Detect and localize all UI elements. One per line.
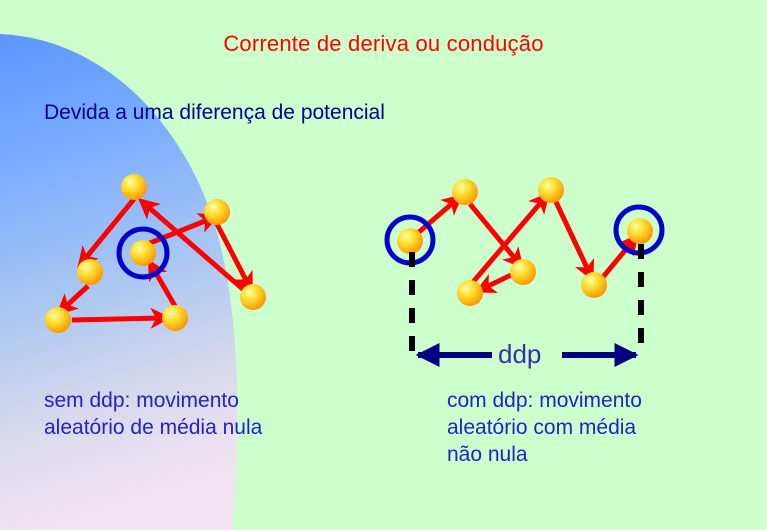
particle [77, 259, 103, 285]
particle-circled [397, 228, 423, 254]
arrow-left-3 [72, 318, 161, 320]
particle [45, 307, 71, 333]
physics-diagram [0, 0, 767, 530]
arrow-left-2 [64, 286, 88, 308]
particle [240, 284, 266, 310]
arrow-right-2 [470, 204, 517, 261]
particle [457, 280, 483, 306]
particle [510, 259, 536, 285]
particle [538, 177, 564, 203]
slide-canvas: Corrente de deriva ou condução Devida a … [0, 0, 767, 530]
arrow-left-5 [150, 219, 210, 243]
arrow-right-3 [484, 275, 511, 288]
ddp-label: ddp [498, 338, 541, 371]
particle [452, 179, 478, 205]
particle [581, 272, 607, 298]
caption-left: sem ddp: movimento aleatório de média nu… [44, 388, 262, 442]
arrow-right-1 [419, 201, 455, 232]
arrow-left-1 [84, 199, 134, 260]
page-title: Corrente de deriva ou condução [0, 30, 767, 58]
arrow-left-6 [217, 224, 248, 284]
particle-circled [130, 240, 156, 266]
subtitle: Devida a uma diferença de potencial [44, 100, 385, 127]
particle [204, 199, 230, 225]
particle [121, 174, 147, 200]
caption-right: com ddp: movimento aleatório com média n… [447, 388, 642, 469]
particle [162, 305, 188, 331]
particle-circled [627, 218, 653, 244]
arrow-right-5 [556, 202, 589, 272]
